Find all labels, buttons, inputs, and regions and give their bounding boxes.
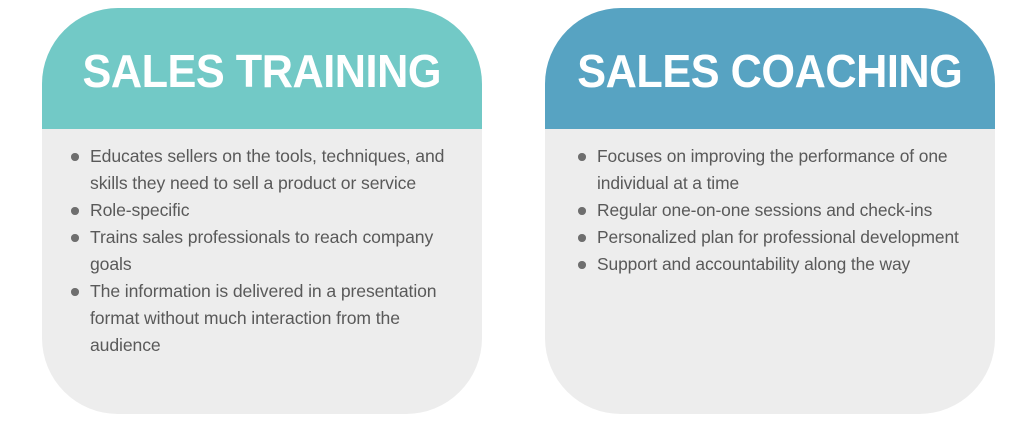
- card-body-sales-coaching: Focuses on improving the performance of …: [545, 129, 995, 414]
- list-item-text: Support and accountability along the way: [597, 254, 910, 274]
- bullet-dot-icon: [578, 153, 586, 161]
- list-item-text: Role-specific: [90, 200, 189, 220]
- list-item: Trains sales professionals to reach comp…: [71, 224, 456, 278]
- card-sales-training: SALES TRAINING Educates sellers on the t…: [42, 8, 482, 414]
- card-title-sales-coaching: SALES COACHING: [577, 48, 962, 94]
- bullet-dot-icon: [71, 153, 79, 161]
- list-item: Regular one-on-one sessions and check-in…: [578, 197, 981, 224]
- list-item-text: Educates sellers on the tools, technique…: [90, 146, 444, 193]
- list-item-text: Regular one-on-one sessions and check-in…: [597, 200, 932, 220]
- list-item: Personalized plan for professional devel…: [578, 224, 981, 251]
- list-item-text: The information is delivered in a presen…: [90, 281, 437, 355]
- bullet-list-sales-training: Educates sellers on the tools, technique…: [71, 143, 456, 359]
- list-item-text: Trains sales professionals to reach comp…: [90, 227, 433, 274]
- card-header-sales-coaching: SALES COACHING: [545, 8, 995, 129]
- list-item-text: Personalized plan for professional devel…: [597, 227, 959, 247]
- list-item: Role-specific: [71, 197, 456, 224]
- list-item: Focuses on improving the performance of …: [578, 143, 981, 197]
- card-header-sales-training: SALES TRAINING: [42, 8, 482, 129]
- bullet-dot-icon: [578, 261, 586, 269]
- list-item: Support and accountability along the way: [578, 251, 981, 278]
- list-item: The information is delivered in a presen…: [71, 278, 456, 359]
- comparison-board: SALES TRAINING Educates sellers on the t…: [0, 0, 1024, 429]
- card-body-sales-training: Educates sellers on the tools, technique…: [42, 129, 482, 414]
- bullet-dot-icon: [71, 288, 79, 296]
- card-sales-coaching: SALES COACHING Focuses on improving the …: [545, 8, 995, 414]
- bullet-dot-icon: [578, 207, 586, 215]
- list-item: Educates sellers on the tools, technique…: [71, 143, 456, 197]
- bullet-list-sales-coaching: Focuses on improving the performance of …: [578, 143, 981, 278]
- bullet-dot-icon: [578, 234, 586, 242]
- list-item-text: Focuses on improving the performance of …: [597, 146, 947, 193]
- bullet-dot-icon: [71, 207, 79, 215]
- bullet-dot-icon: [71, 234, 79, 242]
- card-title-sales-training: SALES TRAINING: [83, 48, 442, 94]
